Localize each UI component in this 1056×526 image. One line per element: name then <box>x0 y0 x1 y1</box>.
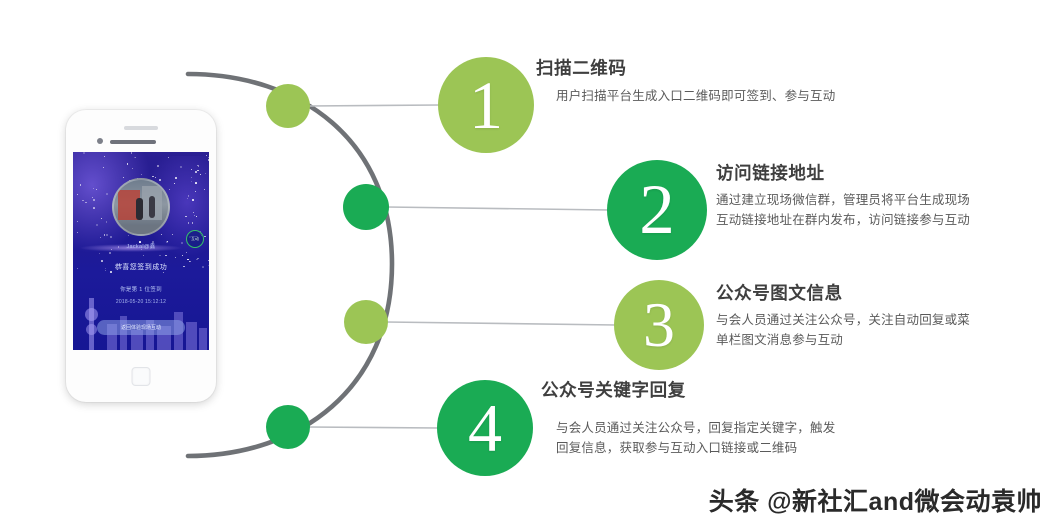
step-title-3: 公众号图文信息 <box>716 280 843 305</box>
step-circle-4[interactable]: 4 <box>437 380 533 476</box>
connector-line-3 <box>386 322 616 325</box>
watermark: 头条 @新社汇and微会动袁帅 <box>709 482 1042 518</box>
step-desc-2: 通过建立现场微信群，管理员将平台生成现场 互动链接地址在群内发布，访问链接参与互… <box>716 190 970 231</box>
screen-return-button[interactable]: 返回体验现场互动 <box>97 320 185 335</box>
phone-front-camera-icon <box>97 138 103 144</box>
step-desc-4: 与会人员通过关注公众号，回复指定关键字，触发 回复信息，获取参与互动入口链接或二… <box>556 418 835 459</box>
screen-interaction-badge[interactable]: 互动 <box>186 230 204 248</box>
arc-dot-1[interactable] <box>266 84 310 128</box>
phone-home-button-icon[interactable] <box>132 367 151 386</box>
step-number-3: 3 <box>643 293 675 357</box>
phone-earpiece <box>110 140 156 144</box>
arc-dot-4[interactable] <box>266 405 310 449</box>
step-circle-1[interactable]: 1 <box>438 57 534 153</box>
arc-path <box>188 74 392 456</box>
connector-line-2 <box>387 207 609 210</box>
step-circle-3[interactable]: 3 <box>614 280 704 370</box>
step-desc-3: 与会人员通过关注公众号，关注自动回复或菜 单栏图文消息参与互动 <box>716 310 970 351</box>
step-title-1: 扫描二维码 <box>536 55 627 80</box>
phone-screen: Jackal@鑫 恭喜您签到成功 你是第 1 位签到 2018-05-20 15… <box>73 152 209 350</box>
step-circle-2[interactable]: 2 <box>607 160 707 260</box>
arc-dot-3[interactable] <box>344 300 388 344</box>
avatar <box>112 178 170 236</box>
step-desc-1: 用户扫描平台生成入口二维码即可签到、参与互动 <box>556 86 835 106</box>
step-number-2: 2 <box>639 175 675 246</box>
diagram-canvas: Jackal@鑫 恭喜您签到成功 你是第 1 位签到 2018-05-20 15… <box>0 0 1056 526</box>
step-title-4: 公众号关键字回复 <box>541 377 686 402</box>
step-number-1: 1 <box>469 71 503 139</box>
step-title-2: 访问链接地址 <box>716 160 825 185</box>
step-number-4: 4 <box>468 394 502 462</box>
phone-speaker-grille <box>124 126 158 130</box>
screen-headline: 恭喜您签到成功 <box>73 262 209 272</box>
phone-mockup: Jackal@鑫 恭喜您签到成功 你是第 1 位签到 2018-05-20 15… <box>66 110 216 402</box>
connector-line-1 <box>308 105 440 106</box>
arc-dot-2[interactable] <box>343 184 389 230</box>
connector-line-4 <box>308 427 439 428</box>
arc-dots <box>266 84 389 449</box>
